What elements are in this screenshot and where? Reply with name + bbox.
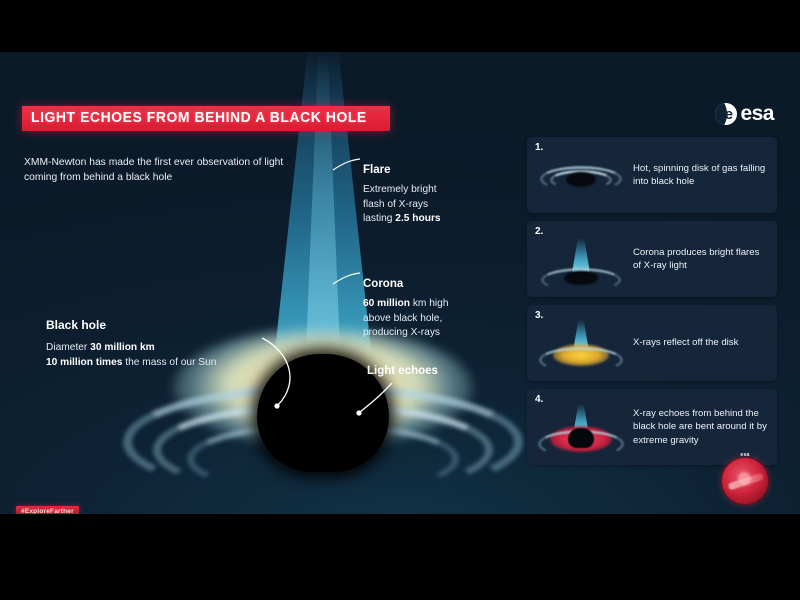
- bh-diameter-value: 30 million km: [90, 342, 155, 353]
- step-1-text: Hot, spinning disk of gas falling into b…: [627, 162, 768, 189]
- bh-mass-value: 10 million times: [46, 357, 122, 368]
- callout-light-echoes-heading: Light echoes: [367, 365, 477, 377]
- intro-text: XMM-Newton has made the first ever obser…: [24, 155, 294, 185]
- letterbox-bottom: [0, 514, 800, 600]
- esa-logo: e esa: [715, 102, 774, 126]
- esa-roundel-icon: e: [715, 103, 737, 125]
- hashtag-badge: #ExploreFarther: [16, 506, 79, 514]
- step-card-1[interactable]: 1. Hot, spinning disk of gas falling int…: [527, 137, 777, 213]
- infographic-stage: LIGHT ECHOES FROM BEHIND A BLACK HOLE XM…: [0, 0, 800, 600]
- patch-disc: [721, 457, 769, 505]
- callout-corona-heading: Corona: [363, 278, 503, 290]
- callout-corona-body: 60 million km high above black hole, pro…: [363, 297, 503, 341]
- callout-black-hole: Black hole Diameter 30 million km 10 mil…: [46, 318, 286, 370]
- callout-black-hole-body: Diameter 30 million km 10 million times …: [46, 341, 286, 370]
- corona-line2: above black hole,: [363, 313, 442, 324]
- step-3-thumbnail: [535, 320, 627, 374]
- step-1-thumbnail: [535, 152, 627, 206]
- flare-line3-prefix: lasting: [363, 213, 395, 224]
- title-badge: LIGHT ECHOES FROM BEHIND A BLACK HOLE: [22, 106, 390, 131]
- callout-corona: Corona 60 million km high above black ho…: [363, 278, 503, 341]
- step-4-text: X-ray echoes from behind the black hole …: [627, 407, 768, 447]
- bh-line1-prefix: Diameter: [46, 342, 90, 353]
- corona-line3: producing X-rays: [363, 327, 440, 338]
- corona-line1-rest: km high: [410, 298, 449, 309]
- step-2-text: Corona produces bright flares of X-ray l…: [627, 246, 768, 273]
- step-2-thumbnail: [535, 236, 627, 290]
- step-card-2[interactable]: 2. Corona produces bright flares of X-ra…: [527, 221, 777, 297]
- infographic-content: LIGHT ECHOES FROM BEHIND A BLACK HOLE XM…: [0, 52, 800, 514]
- callout-flare: Flare Extremely bright flash of X-rays l…: [363, 164, 493, 227]
- page-title: LIGHT ECHOES FROM BEHIND A BLACK HOLE: [31, 110, 367, 126]
- steps-panel: 1. Hot, spinning disk of gas falling int…: [527, 137, 777, 473]
- callout-black-hole-heading: Black hole: [46, 318, 286, 332]
- step-3-text: X-rays reflect off the disk: [627, 336, 738, 349]
- flare-duration: 2.5 hours: [395, 213, 440, 224]
- callout-flare-heading: Flare: [363, 164, 493, 176]
- flare-line2: flash of X-rays: [363, 199, 428, 210]
- bh-line2-rest: the mass of our Sun: [122, 357, 216, 368]
- esa-wordmark: esa: [740, 102, 774, 126]
- callout-flare-body: Extremely bright flash of X-rays lasting…: [363, 183, 493, 227]
- step-card-3[interactable]: 3. X-rays reflect off the disk: [527, 305, 777, 381]
- mission-patch: esa: [718, 450, 772, 508]
- corona-height-value: 60 million: [363, 298, 410, 309]
- step-4-thumbnail: [535, 404, 627, 458]
- letterbox-top: [0, 0, 800, 52]
- callout-light-echoes: Light echoes: [367, 365, 477, 384]
- flare-line1: Extremely bright: [363, 184, 437, 195]
